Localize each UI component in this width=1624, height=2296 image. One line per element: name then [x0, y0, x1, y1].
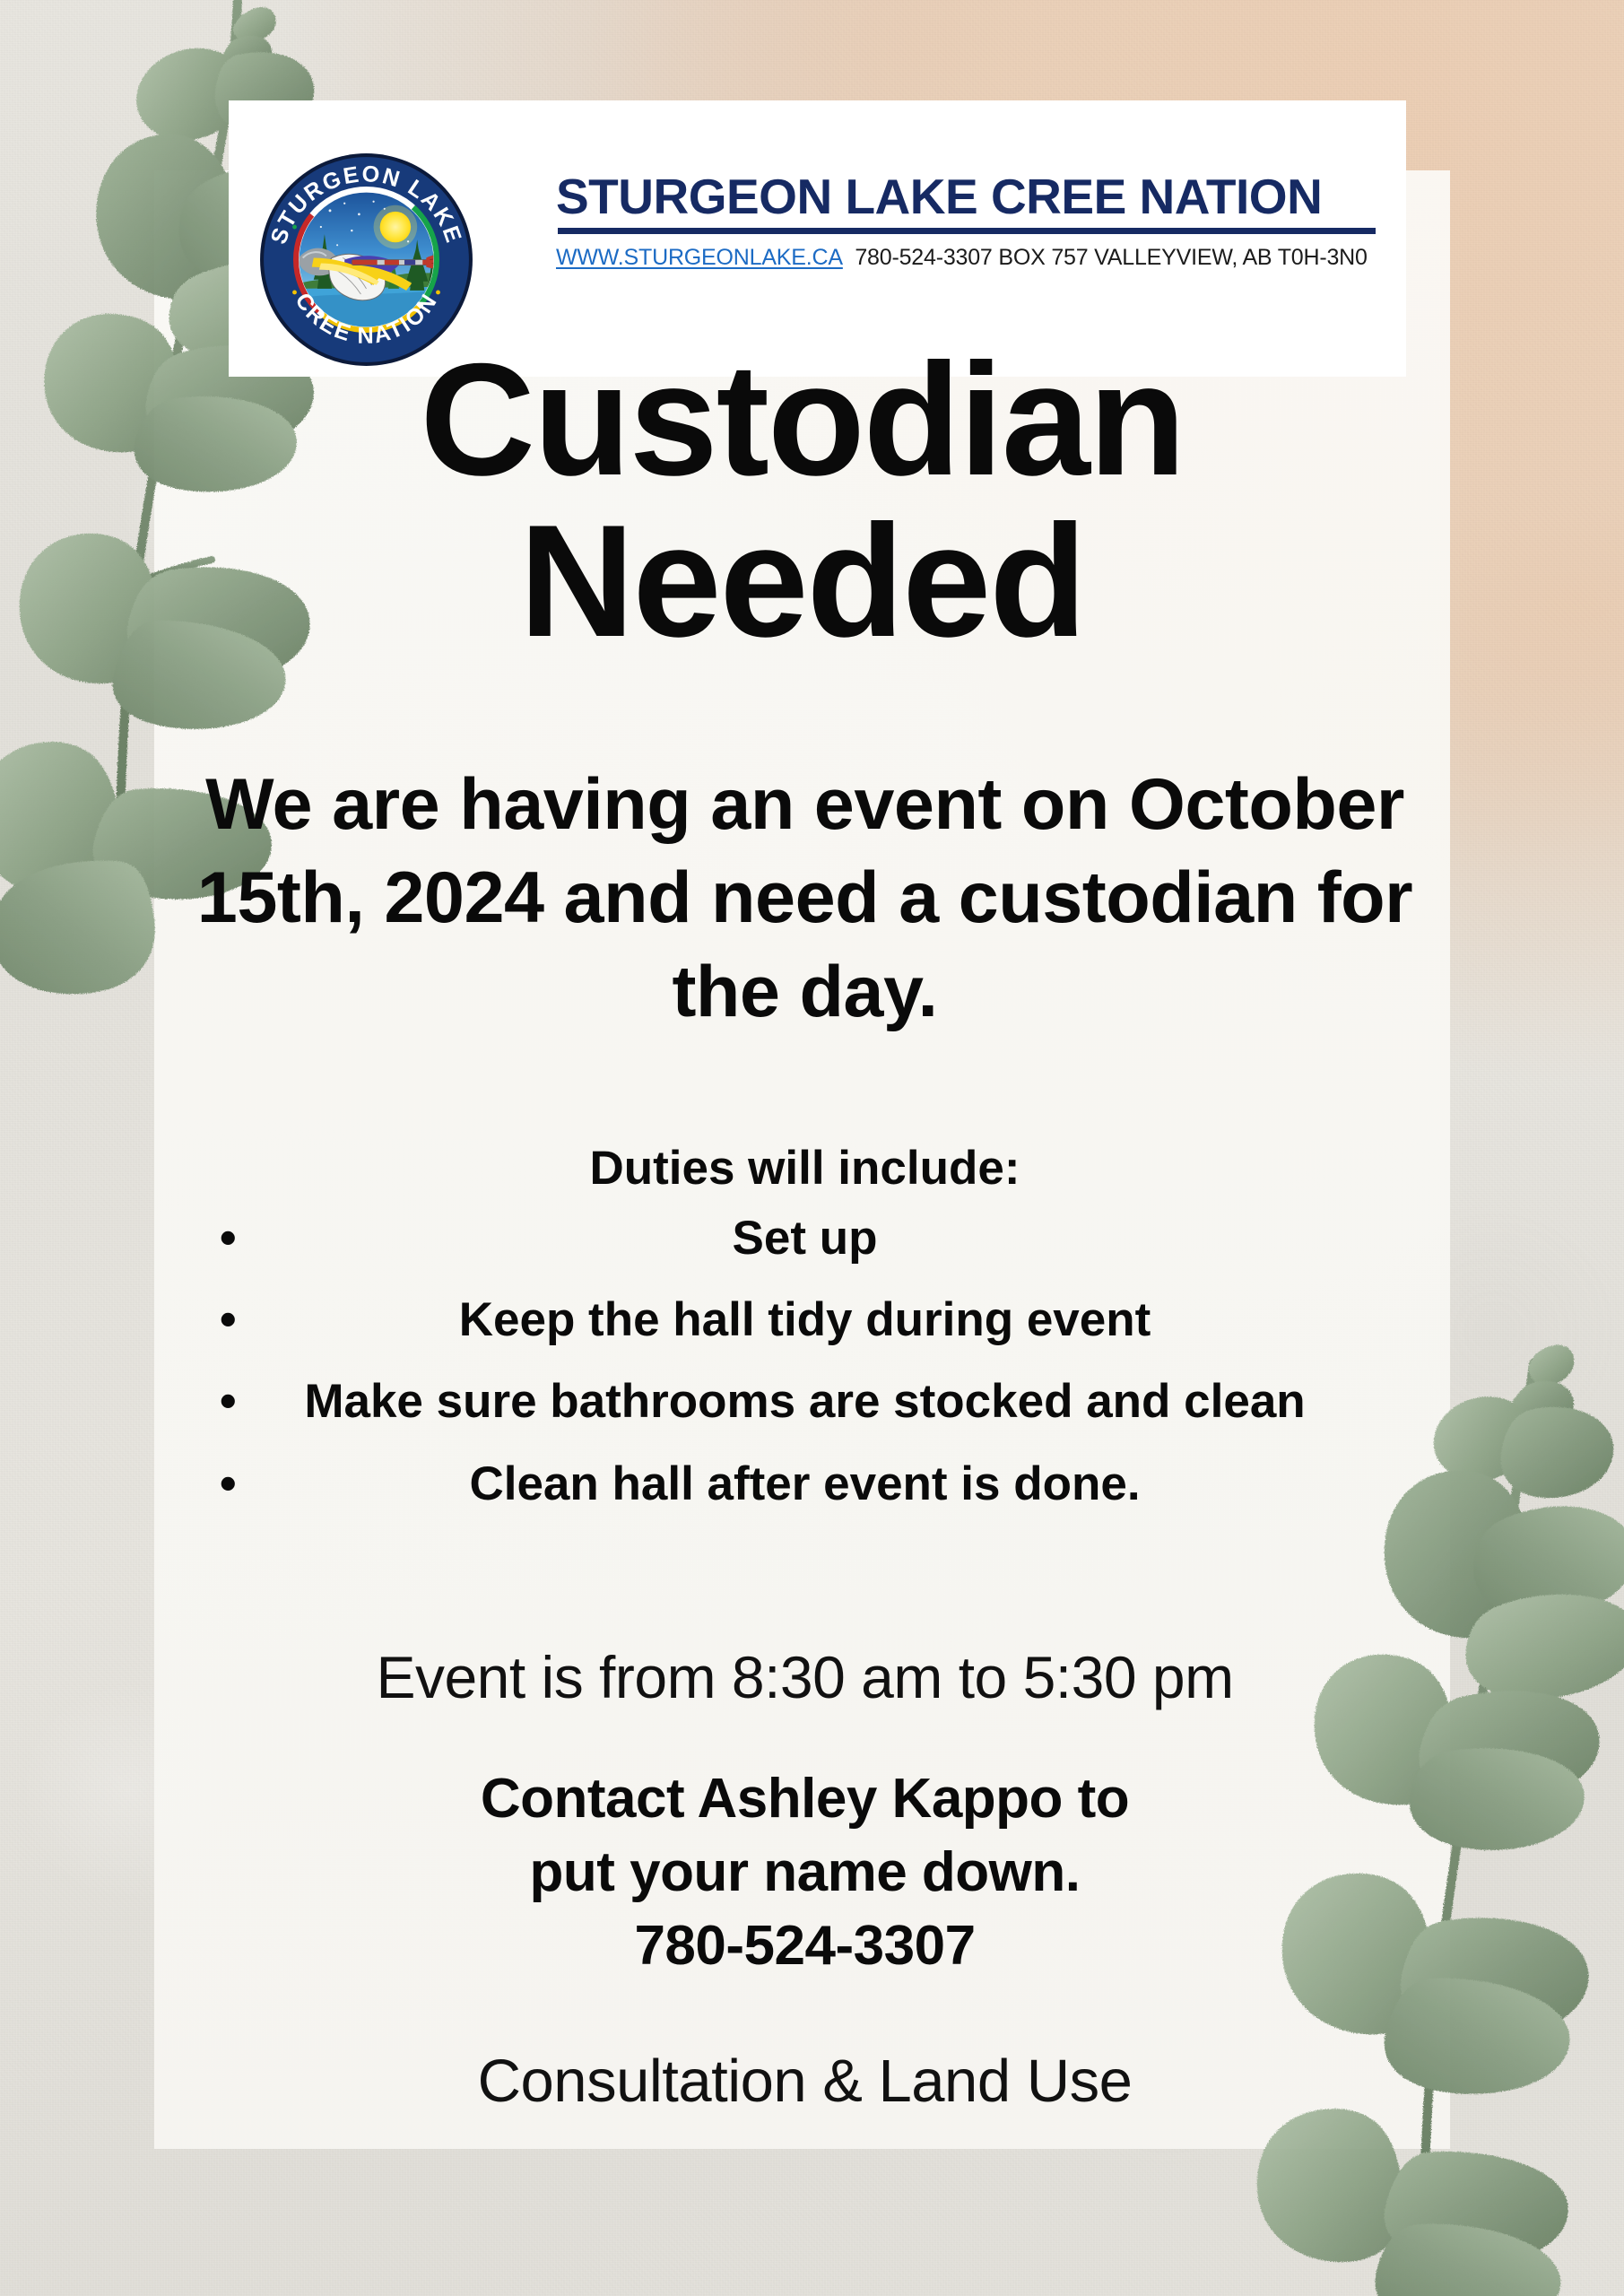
- letterhead-contact-details: 780-524-3307 BOX 757 VALLEYVIEW, AB T0H-…: [855, 245, 1367, 270]
- duty-text: Clean hall after event is done.: [469, 1457, 1140, 1510]
- contact-block: Contact Ashley Kappo to put your name do…: [166, 1762, 1444, 1982]
- poster-canvas: STURGEON LAKE CREE NATION STURGEON LAKE …: [0, 0, 1624, 2296]
- bullet-icon: •: [220, 1458, 237, 1509]
- organization-name-underline: [558, 228, 1376, 234]
- bullet-icon: •: [220, 1213, 237, 1264]
- duty-text: Set up: [733, 1212, 878, 1265]
- contact-line-2: put your name down.: [166, 1836, 1444, 1909]
- duty-text: Make sure bathrooms are stocked and clea…: [304, 1375, 1305, 1428]
- website-link[interactable]: WWW.STURGEONLAKE.CA: [556, 245, 843, 270]
- list-item: • Make sure bathrooms are stocked and cl…: [166, 1376, 1444, 1427]
- poster-headline: Custodian Needed: [154, 339, 1450, 662]
- duty-text: Keep the hall tidy during event: [459, 1293, 1151, 1346]
- contact-line-1: Contact Ashley Kappo to: [166, 1762, 1444, 1836]
- contact-phone[interactable]: 780-524-3307: [166, 1909, 1444, 1983]
- duties-heading: Duties will include:: [166, 1141, 1444, 1196]
- lead-paragraph: We are having an event on October 15th, …: [166, 758, 1444, 1039]
- bullet-icon: •: [220, 1376, 237, 1427]
- headline-line-1: Custodian: [154, 339, 1450, 500]
- headline-line-2: Needed: [154, 500, 1450, 662]
- letterhead-contact-line: WWW.STURGEONLAKE.CA 780-524-3307 BOX 757…: [556, 245, 1417, 271]
- duties-list: • Set up • Keep the hall tidy during eve…: [166, 1213, 1444, 1540]
- event-time: Event is from 8:30 am to 5:30 pm: [166, 1643, 1444, 1711]
- list-item: • Keep the hall tidy during event: [166, 1294, 1444, 1345]
- bullet-icon: •: [220, 1294, 237, 1345]
- organization-name: STURGEON LAKE CREE NATION: [556, 168, 1399, 225]
- list-item: • Set up: [166, 1213, 1444, 1264]
- department-name: Consultation & Land Use: [166, 2047, 1444, 2116]
- list-item: • Clean hall after event is done.: [166, 1458, 1444, 1509]
